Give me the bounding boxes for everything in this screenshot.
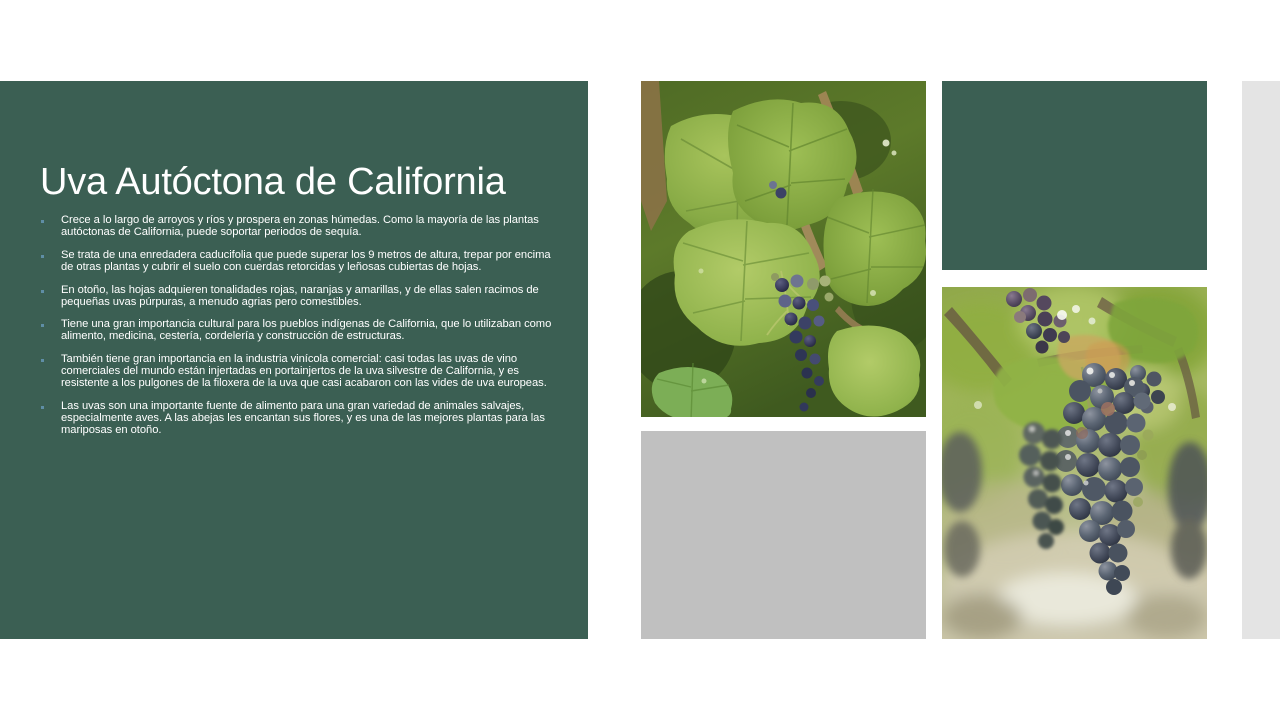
list-item-text: En otoño, las hojas adquieren tonalidade…	[61, 284, 539, 308]
image-placeholder-lower-left	[641, 431, 926, 639]
list-item-text: Tiene una gran importancia cultural para…	[61, 318, 551, 342]
list-item: En otoño, las hojas adquieren tonalidade…	[38, 285, 558, 309]
vine-leaves-illustration	[641, 81, 926, 417]
list-item: Las uvas son una importante fuente de al…	[38, 401, 558, 437]
green-accent-block	[942, 81, 1207, 270]
bullet-square-icon	[41, 406, 44, 409]
bullet-list: Crece a lo largo de arroyos y ríos y pro…	[38, 215, 558, 448]
list-item: Crece a lo largo de arroyos y ríos y pro…	[38, 215, 558, 239]
bullet-square-icon	[41, 359, 44, 362]
grape-vine-leaves-photo	[641, 81, 926, 417]
list-item-text: Las uvas son una importante fuente de al…	[61, 400, 545, 436]
list-item-text: También tiene gran importancia en la ind…	[61, 353, 547, 389]
list-item: Tiene una gran importancia cultural para…	[38, 319, 558, 343]
bullet-square-icon	[41, 255, 44, 258]
list-item-text: Se trata de una enredadera caducifolia q…	[61, 249, 551, 273]
bullet-square-icon	[41, 290, 44, 293]
page-title: Uva Autóctona de California	[40, 160, 560, 204]
list-item: Se trata de una enredadera caducifolia q…	[38, 250, 558, 274]
list-item: También tiene gran importancia en la ind…	[38, 354, 558, 390]
bullet-square-icon	[41, 220, 44, 223]
list-item-text: Crece a lo largo de arroyos y ríos y pro…	[61, 214, 539, 238]
grape-cluster-illustration	[942, 287, 1207, 639]
slide-canvas: Uva Autóctona de California Crece a lo l…	[0, 0, 1280, 720]
image-placeholder-right-strip	[1242, 81, 1280, 639]
bullet-square-icon	[41, 324, 44, 327]
hanging-grape-cluster-photo	[942, 287, 1207, 639]
